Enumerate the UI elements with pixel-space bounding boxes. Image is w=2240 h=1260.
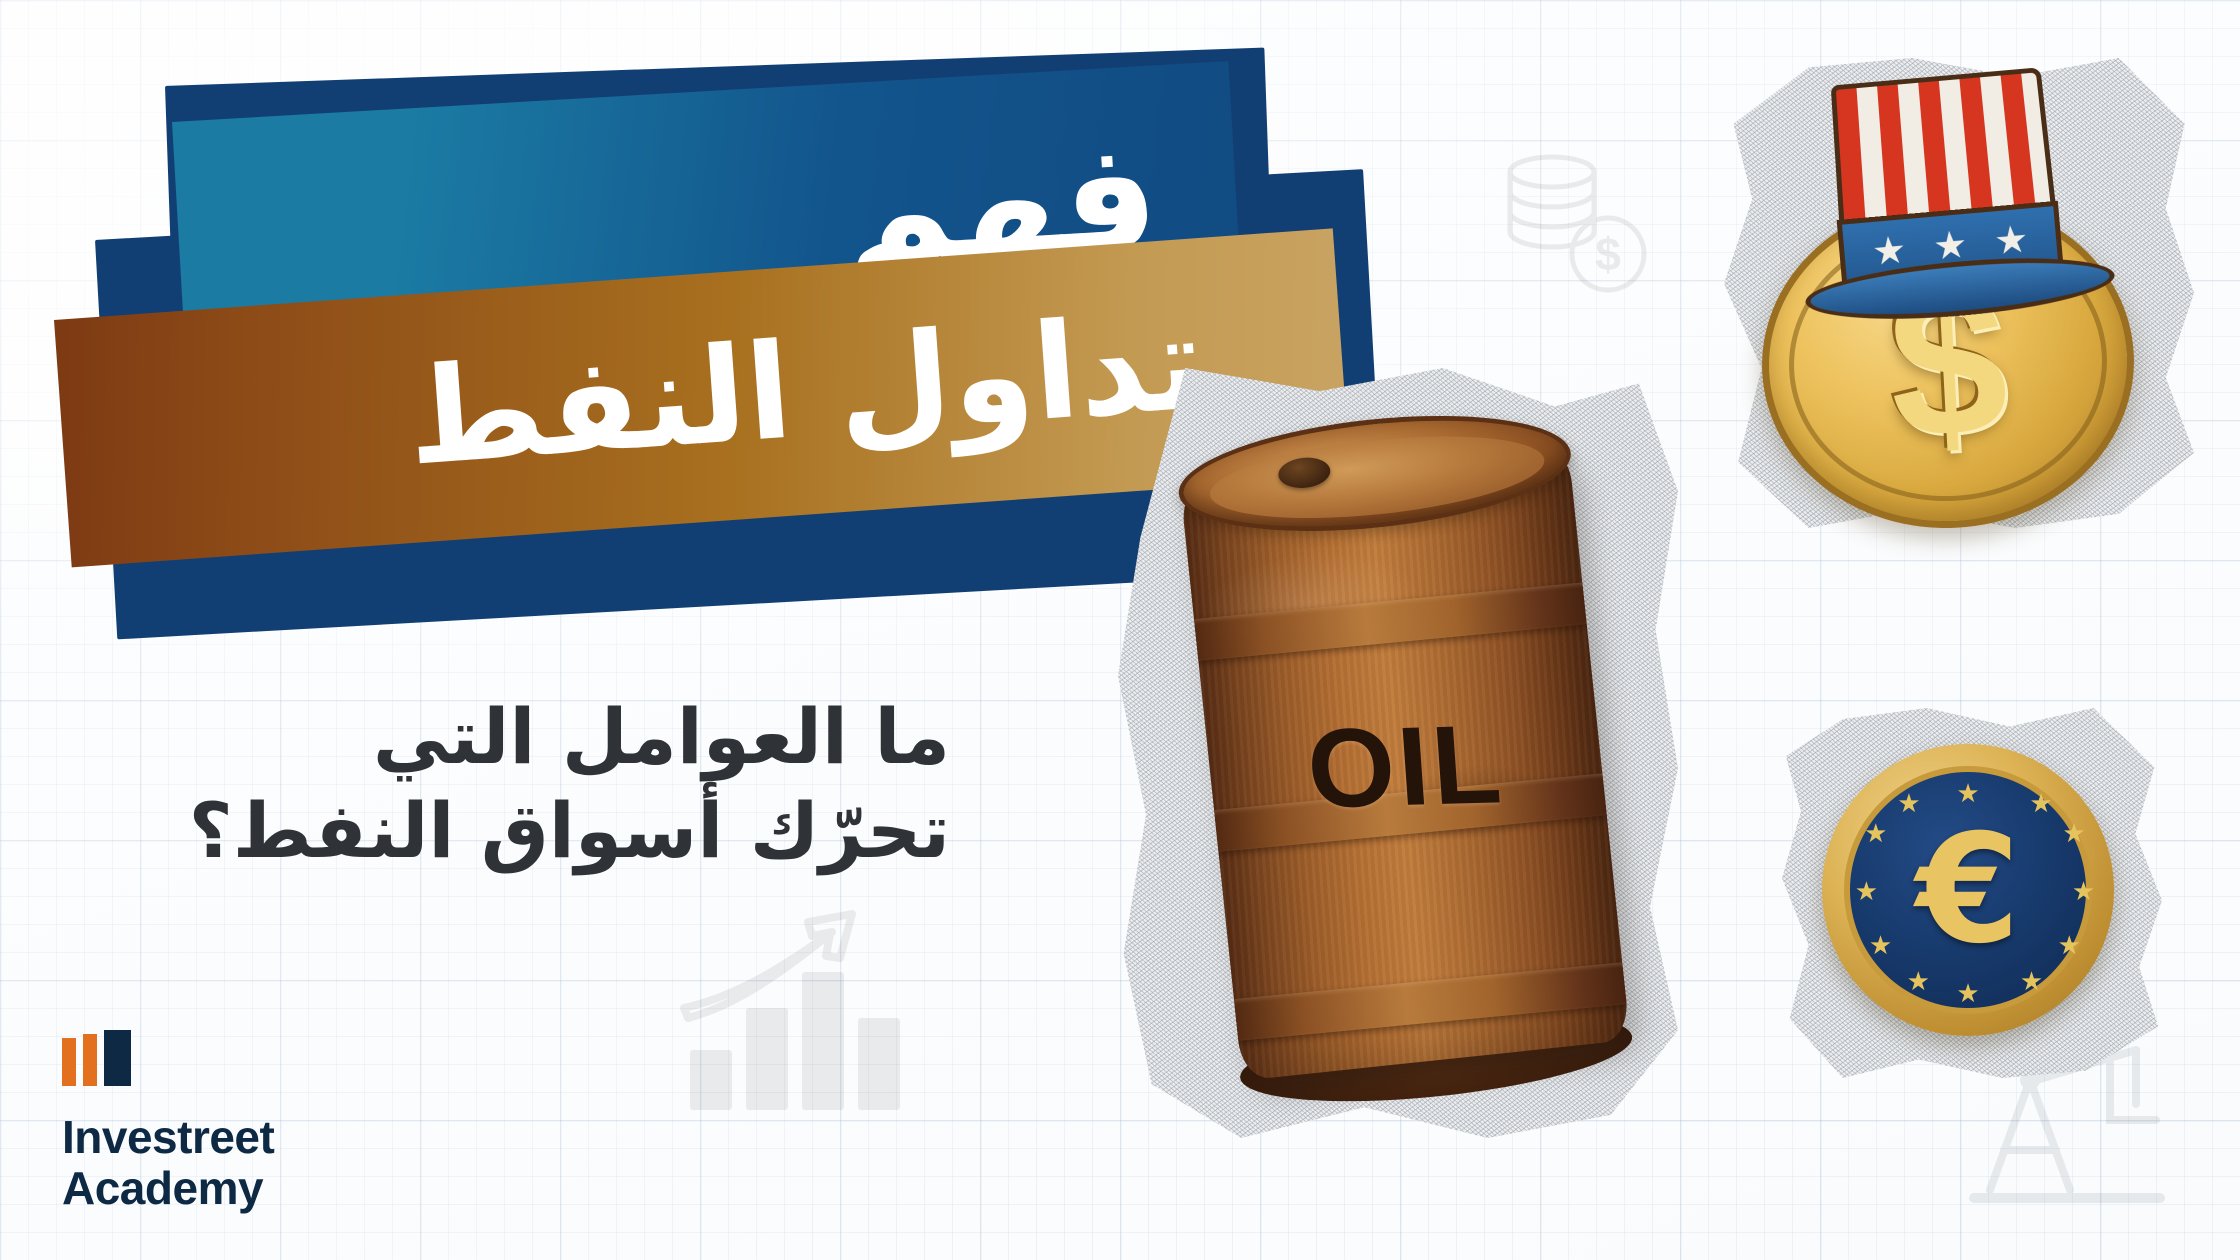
uncle-sam-hat-icon: ★ ★ ★ (1787, 57, 2116, 313)
eu-star-icon: ★ (1864, 820, 1887, 846)
hat-star-icon: ★ (1993, 221, 2030, 262)
subtitle-block: ما العوامل التي تحرّك أسواق النفط؟ (120, 690, 950, 878)
logo-line-2: Academy (62, 1163, 274, 1214)
hat-star-icon: ★ (1871, 231, 1908, 272)
svg-text:$: $ (1595, 228, 1621, 280)
subtitle-line-2: تحرّك أسواق النفط؟ (120, 784, 950, 878)
subtitle-line-1: ما العوامل التي (120, 690, 950, 784)
coin-stack-dollar-icon: $ (1490, 150, 1660, 300)
logo-line-1: Investreet (62, 1112, 274, 1163)
oil-barrel-graphic: OIL (1090, 350, 1730, 1180)
eu-star-icon: ★ (2062, 820, 2085, 846)
euro-coin-graphic: € ★ ★ ★ ★ ★ ★ ★ ★ ★ ★ ★ ★ (1770, 700, 2200, 1130)
eu-star-icon: ★ (1907, 968, 1930, 994)
barrel-label-text: OIL (1206, 697, 1605, 836)
dollar-coin-graphic: $ ★ ★ ★ (1700, 48, 2240, 568)
brand-logo[interactable]: Investreet Academy (62, 1030, 274, 1213)
eu-star-icon: ★ (2029, 790, 2052, 816)
eu-star-icon: ★ (2072, 878, 2095, 904)
eu-star-icon: ★ (2058, 932, 2081, 958)
logo-wordmark: Investreet Academy (62, 1112, 274, 1213)
euro-coin-face: € ★ ★ ★ ★ ★ ★ ★ ★ ★ ★ ★ ★ (1844, 766, 2092, 1014)
oil-barrel-icon: OIL (1174, 383, 1633, 1100)
eu-star-icon: ★ (1956, 780, 1979, 806)
logo-mark-icon (62, 1030, 274, 1086)
eu-star-icon: ★ (1897, 790, 1920, 816)
headline-text-line2: تداول النفط (403, 296, 1209, 485)
eu-star-icon: ★ (1869, 932, 1892, 958)
eu-star-icon: ★ (1956, 980, 1979, 1006)
poster-canvas: $ فهم تداول النفط (0, 0, 2240, 1260)
eu-star-icon: ★ (2020, 968, 2043, 994)
euro-symbol: € (1916, 815, 2020, 965)
bar-chart-growth-icon (680, 900, 930, 1120)
euro-coin-icon: € ★ ★ ★ ★ ★ ★ ★ ★ ★ ★ ★ ★ (1822, 744, 2114, 1036)
eu-star-icon: ★ (1855, 878, 1878, 904)
